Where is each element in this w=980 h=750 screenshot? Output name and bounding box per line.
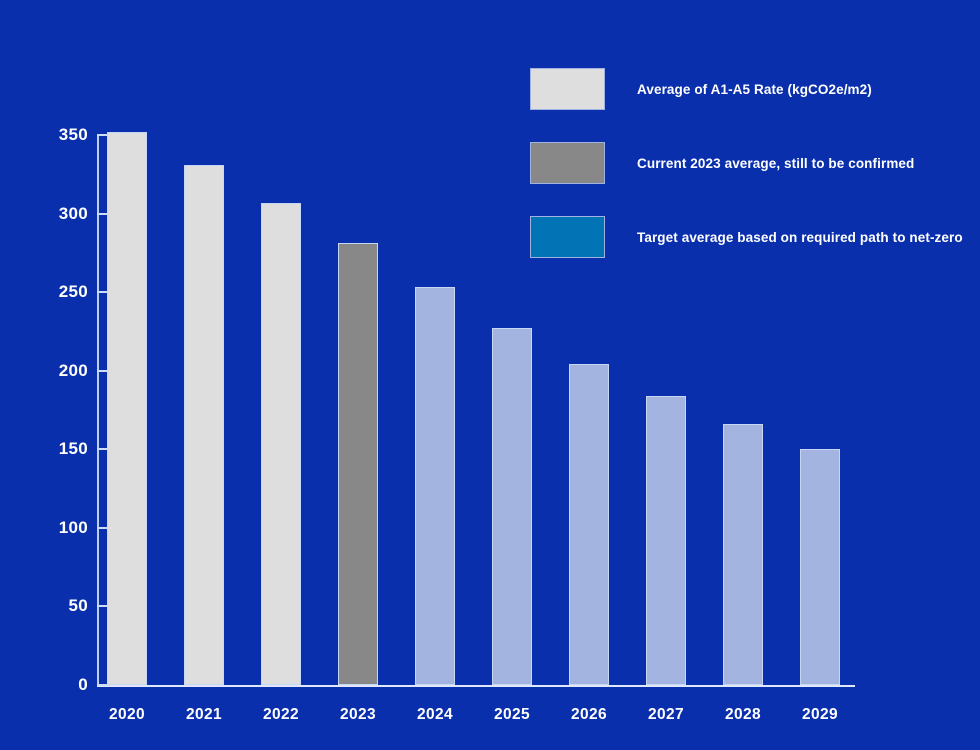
x-axis-line: [97, 685, 855, 687]
y-axis-tick-label: 150: [24, 439, 88, 459]
bar-2021[interactable]: [184, 165, 224, 685]
bar-2026[interactable]: [569, 364, 609, 685]
x-axis-label-2021: 2021: [186, 706, 222, 724]
y-axis-tick-label: 350: [24, 125, 88, 145]
x-axis-label-2022: 2022: [263, 706, 299, 724]
y-axis-tick-label: 50: [24, 596, 88, 616]
bar-2028[interactable]: [723, 424, 763, 685]
bar-2027[interactable]: [646, 396, 686, 685]
x-axis-label-2024: 2024: [417, 706, 453, 724]
x-axis-label-2029: 2029: [802, 706, 838, 724]
bar-2022[interactable]: [261, 203, 301, 685]
y-axis-tick-label: 0: [24, 675, 88, 695]
chart-container: Average of A1-A5 Rate (kgCO2e/m2) Curren…: [0, 0, 980, 750]
x-axis-label-2027: 2027: [648, 706, 684, 724]
y-axis-tick-label: 200: [24, 361, 88, 381]
bar-2020[interactable]: [107, 132, 147, 685]
plot-area: 050100150200250300350 202020212022202320…: [0, 0, 980, 750]
x-axis-label-2020: 2020: [109, 706, 145, 724]
x-axis-label-2023: 2023: [340, 706, 376, 724]
y-axis-tick-label: 250: [24, 282, 88, 302]
bar-2024[interactable]: [415, 287, 455, 685]
bar-2029[interactable]: [800, 449, 840, 685]
y-axis-tick-label: 300: [24, 204, 88, 224]
x-axis-label-2025: 2025: [494, 706, 530, 724]
y-axis-line: [97, 134, 99, 686]
bar-2025[interactable]: [492, 328, 532, 685]
y-axis-tick-label: 100: [24, 518, 88, 538]
x-axis-label-2028: 2028: [725, 706, 761, 724]
bar-2023[interactable]: [338, 243, 378, 685]
x-axis-label-2026: 2026: [571, 706, 607, 724]
